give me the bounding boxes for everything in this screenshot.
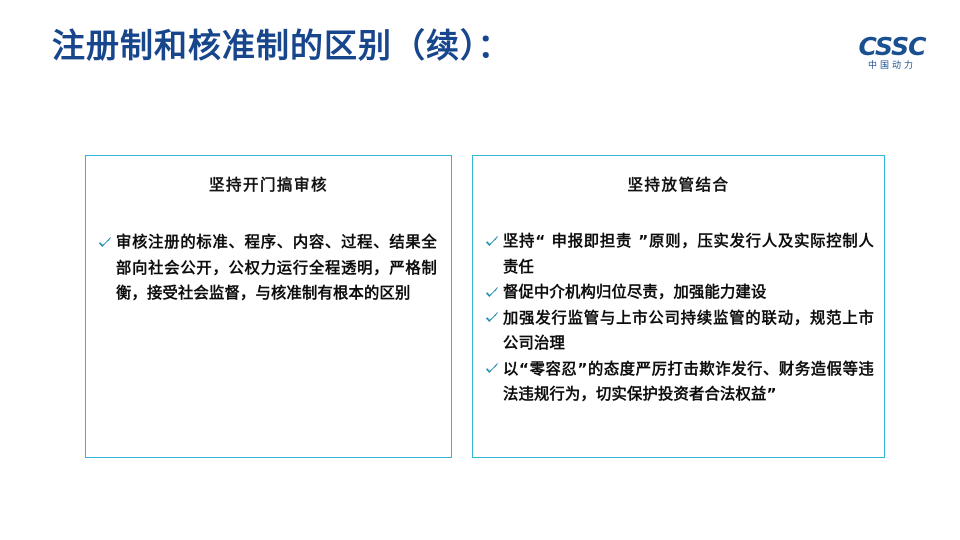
list-item: 审核注册的标准、程序、内容、过程、结果全部向社会公开，公权力运行全程透明，严格制… bbox=[86, 230, 451, 307]
list-item: 以“零容忍”的态度严厉打击欺诈发行、财务造假等违法违规行为，切实保护投资者合法权… bbox=[473, 357, 884, 408]
list-item-text: 加强发行监管与上市公司持续监管的联动，规范上市公司治理 bbox=[503, 306, 874, 357]
list-item-text: 审核注册的标准、程序、内容、过程、结果全部向社会公开，公权力运行全程透明，严格制… bbox=[116, 230, 439, 307]
check-icon bbox=[481, 280, 503, 306]
list-item: 坚持“ 申报即担责 ”原则，压实发行人及实际控制人责任 bbox=[473, 229, 884, 280]
panel-left-header: 坚持开门搞审核 bbox=[86, 175, 451, 195]
check-icon bbox=[481, 306, 503, 332]
panel-right-header: 坚持放管结合 bbox=[473, 175, 884, 195]
check-icon bbox=[94, 230, 116, 256]
list-item: 督促中介机构归位尽责，加强能力建设 bbox=[473, 280, 884, 306]
logo-wordmark: CSSC bbox=[846, 34, 938, 59]
content-panel-right: 坚持放管结合 坚持“ 申报即担责 ”原则，压实发行人及实际控制人责任 bbox=[472, 155, 885, 458]
panel-left-bullet-list: 审核注册的标准、程序、内容、过程、结果全部向社会公开，公权力运行全程透明，严格制… bbox=[86, 230, 451, 307]
page-title: 注册制和核准制的区别（续）： bbox=[52, 26, 512, 66]
slide-canvas: 注册制和核准制的区别（续）： CSSC 中国动力 坚持开门搞审核 审核注册的标准… bbox=[0, 0, 960, 540]
list-item-text: 督促中介机构归位尽责，加强能力建设 bbox=[503, 280, 874, 306]
list-item-text: 以“零容忍”的态度严厉打击欺诈发行、财务造假等违法违规行为，切实保护投资者合法权… bbox=[503, 357, 874, 408]
panel-right-bullet-list: 坚持“ 申报即担责 ”原则，压实发行人及实际控制人责任 督促中介机构归位尽责，加… bbox=[473, 229, 884, 408]
logo-subtitle: 中国动力 bbox=[846, 62, 938, 71]
cssc-logo: CSSC 中国动力 bbox=[846, 34, 938, 71]
list-item: 加强发行监管与上市公司持续监管的联动，规范上市公司治理 bbox=[473, 306, 884, 357]
list-item-text: 坚持“ 申报即担责 ”原则，压实发行人及实际控制人责任 bbox=[503, 229, 874, 280]
content-panel-left: 坚持开门搞审核 审核注册的标准、程序、内容、过程、结果全部向社会公开，公权力运行… bbox=[85, 155, 452, 458]
check-icon bbox=[481, 357, 503, 383]
check-icon bbox=[481, 229, 503, 255]
